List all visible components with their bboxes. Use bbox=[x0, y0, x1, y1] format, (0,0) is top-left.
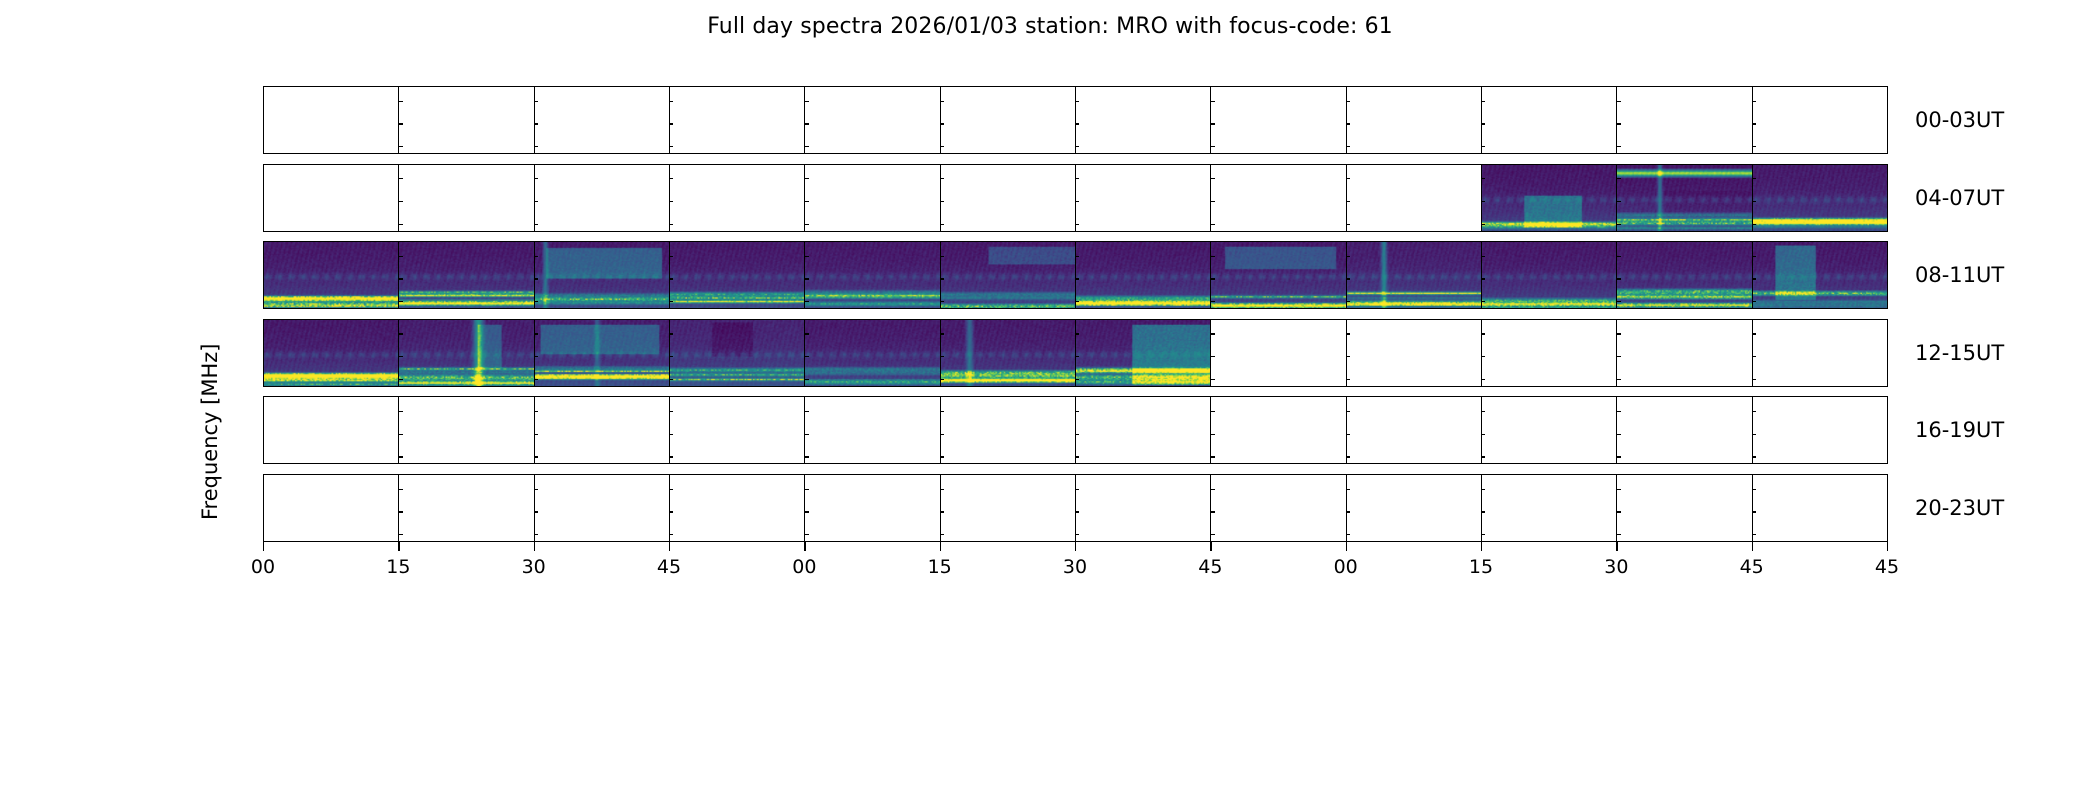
spectrogram-row-16-19ut: 255075 bbox=[263, 396, 1887, 464]
spectrogram-image bbox=[1617, 165, 1752, 231]
y-tick-mark-inner bbox=[534, 278, 539, 279]
y-tick-mark-inner bbox=[669, 379, 674, 380]
x-tick-mark bbox=[1075, 542, 1076, 551]
spectrogram-panel[interactable] bbox=[1481, 164, 1618, 232]
y-tick-mark-inner bbox=[1616, 434, 1621, 435]
y-tick-mark-inner bbox=[398, 146, 403, 147]
x-tick-label: 30 bbox=[522, 556, 546, 578]
x-tick-label: 45 bbox=[1198, 556, 1222, 578]
y-tick-mark-inner bbox=[1210, 146, 1215, 147]
spectrogram-panel[interactable] bbox=[398, 241, 535, 309]
y-tick-mark-inner bbox=[1616, 534, 1621, 535]
y-tick-mark-inner bbox=[669, 178, 674, 179]
x-tick-label: 00 bbox=[251, 556, 275, 578]
y-tick-mark-inner bbox=[1752, 201, 1757, 202]
y-tick-mark-inner bbox=[940, 123, 945, 124]
y-tick-mark-inner bbox=[940, 101, 945, 102]
spectrogram-panel[interactable] bbox=[534, 474, 671, 542]
spectrogram-image bbox=[1753, 242, 1888, 308]
y-tick-mark bbox=[263, 278, 264, 279]
y-tick-mark bbox=[263, 101, 264, 102]
y-tick-mark-inner bbox=[1481, 356, 1486, 357]
spectrogram-panel[interactable]: 255075 bbox=[263, 319, 400, 387]
y-tick-mark-inner bbox=[1481, 224, 1486, 225]
y-tick-mark-inner bbox=[1210, 101, 1215, 102]
y-tick-mark-inner bbox=[1481, 434, 1486, 435]
y-tick-mark-inner bbox=[669, 101, 674, 102]
y-tick-mark-inner bbox=[1752, 434, 1757, 435]
spectrogram-panel[interactable] bbox=[804, 396, 941, 464]
spectrogram-panel[interactable]: 255075 bbox=[263, 474, 400, 542]
y-tick-mark bbox=[263, 146, 264, 147]
y-tick-mark-inner bbox=[1346, 489, 1351, 490]
spectrogram-panel[interactable] bbox=[940, 86, 1077, 154]
spectrogram-row-00-03ut: 255075 bbox=[263, 86, 1887, 154]
y-tick-mark-inner bbox=[669, 201, 674, 202]
spectrogram-image bbox=[941, 242, 1076, 308]
row-label-12-15ut: 12-15UT bbox=[1915, 341, 2004, 365]
y-tick-mark-inner bbox=[1210, 379, 1215, 380]
y-tick-mark bbox=[263, 411, 264, 412]
y-tick-mark-inner bbox=[804, 101, 809, 102]
y-tick-mark-inner bbox=[1210, 201, 1215, 202]
y-tick-mark bbox=[263, 201, 264, 202]
y-tick-mark-inner bbox=[1075, 534, 1080, 535]
y-tick-mark-inner bbox=[1075, 434, 1080, 435]
spectrogram-panel[interactable] bbox=[1346, 319, 1483, 387]
y-tick-mark bbox=[263, 511, 264, 512]
spectrogram-panel[interactable] bbox=[1346, 164, 1483, 232]
y-tick-mark-inner bbox=[804, 301, 809, 302]
row-label-08-11ut: 08-11UT bbox=[1915, 263, 2004, 287]
y-tick-mark-inner bbox=[398, 123, 403, 124]
spectrogram-panel[interactable] bbox=[940, 396, 1077, 464]
y-tick-mark-inner bbox=[534, 301, 539, 302]
y-tick-mark-inner bbox=[669, 456, 674, 457]
y-tick-mark-inner bbox=[1752, 146, 1757, 147]
spectrogram-panel[interactable]: 255075 bbox=[263, 396, 400, 464]
y-tick-mark-inner bbox=[1075, 146, 1080, 147]
y-tick-mark-inner bbox=[1616, 178, 1621, 179]
spectrogram-panel[interactable] bbox=[1616, 86, 1753, 154]
spectrogram-row-20-23ut: 255075 bbox=[263, 474, 1887, 542]
y-tick-mark-inner bbox=[398, 534, 403, 535]
x-tick-mark bbox=[1210, 542, 1211, 551]
x-tick-label: 15 bbox=[1469, 556, 1493, 578]
spectrogram-panel[interactable] bbox=[1075, 86, 1212, 154]
spectrogram-panel[interactable] bbox=[1752, 319, 1889, 387]
spectrogram-image bbox=[535, 242, 670, 308]
y-tick-mark-inner bbox=[940, 201, 945, 202]
y-tick-mark-inner bbox=[1075, 278, 1080, 279]
y-tick-mark bbox=[263, 356, 264, 357]
y-tick-mark-inner bbox=[669, 256, 674, 257]
y-tick-mark-inner bbox=[1075, 201, 1080, 202]
y-tick-mark-inner bbox=[1616, 278, 1621, 279]
spectrogram-panel[interactable] bbox=[669, 241, 806, 309]
y-tick-mark-inner bbox=[1616, 101, 1621, 102]
y-tick-mark-inner bbox=[940, 178, 945, 179]
y-tick-mark-inner bbox=[1752, 456, 1757, 457]
y-tick-mark-inner bbox=[534, 333, 539, 334]
y-tick-mark-inner bbox=[804, 224, 809, 225]
y-tick-mark-inner bbox=[804, 333, 809, 334]
y-tick-mark-inner bbox=[398, 434, 403, 435]
y-tick-mark-inner bbox=[1481, 333, 1486, 334]
y-tick-mark-inner bbox=[1481, 123, 1486, 124]
y-tick-mark bbox=[263, 224, 264, 225]
spectrogram-image bbox=[1076, 242, 1211, 308]
spectrogram-panel[interactable] bbox=[669, 86, 806, 154]
spectrogram-image bbox=[1753, 165, 1888, 231]
y-tick-mark-inner bbox=[1752, 511, 1757, 512]
spectrogram-panel[interactable] bbox=[669, 164, 806, 232]
spectrogram-panel[interactable] bbox=[940, 241, 1077, 309]
spectrogram-panel[interactable]: 255075 bbox=[263, 86, 400, 154]
y-tick-mark-inner bbox=[1210, 356, 1215, 357]
spectrogram-row-08-11ut: 255075 bbox=[263, 241, 1887, 309]
x-tick-mark bbox=[940, 542, 941, 551]
y-tick-mark-inner bbox=[1752, 411, 1757, 412]
spectrogram-image bbox=[399, 320, 534, 386]
y-tick-mark-inner bbox=[398, 201, 403, 202]
y-tick-mark-inner bbox=[1210, 411, 1215, 412]
y-tick-mark-inner bbox=[1210, 434, 1215, 435]
y-tick-mark-inner bbox=[1346, 534, 1351, 535]
spectrogram-panel[interactable] bbox=[1346, 474, 1483, 542]
spectrogram-panel[interactable] bbox=[1346, 396, 1483, 464]
row-label-00-03ut: 00-03UT bbox=[1915, 108, 2004, 132]
y-tick-mark-inner bbox=[1481, 379, 1486, 380]
y-tick-mark-inner bbox=[940, 456, 945, 457]
spectrogram-panel[interactable] bbox=[534, 396, 671, 464]
y-tick-mark-inner bbox=[1616, 333, 1621, 334]
spectrogram-image bbox=[264, 320, 399, 386]
y-tick-mark-inner bbox=[1616, 123, 1621, 124]
spectrogram-panel[interactable] bbox=[1616, 396, 1753, 464]
y-tick-mark-inner bbox=[940, 434, 945, 435]
y-tick-mark-inner bbox=[1481, 256, 1486, 257]
x-tick-mark bbox=[1346, 542, 1347, 551]
y-tick-mark-inner bbox=[1752, 356, 1757, 357]
y-tick-mark-inner bbox=[1210, 256, 1215, 257]
spectrogram-panel[interactable] bbox=[804, 319, 941, 387]
y-tick-mark-inner bbox=[398, 224, 403, 225]
spectrogram-image bbox=[1347, 242, 1482, 308]
x-tick-label: 00 bbox=[1334, 556, 1358, 578]
y-tick-mark-inner bbox=[1346, 379, 1351, 380]
spectrogram-panel[interactable] bbox=[1752, 396, 1889, 464]
y-tick-mark-inner bbox=[398, 301, 403, 302]
y-tick-mark-inner bbox=[669, 224, 674, 225]
y-tick-mark-inner bbox=[398, 356, 403, 357]
y-tick-mark-inner bbox=[1075, 489, 1080, 490]
y-tick-mark-inner bbox=[940, 256, 945, 257]
y-tick-mark-inner bbox=[804, 256, 809, 257]
y-tick-mark bbox=[263, 333, 264, 334]
y-tick-mark-inner bbox=[940, 356, 945, 357]
spectrogram-panel[interactable] bbox=[1210, 474, 1347, 542]
x-tick-mark bbox=[534, 542, 535, 551]
y-tick-mark-inner bbox=[1481, 534, 1486, 535]
spectrogram-panel[interactable] bbox=[398, 474, 535, 542]
spectrogram-panel[interactable] bbox=[940, 474, 1077, 542]
spectrogram-panel[interactable] bbox=[398, 86, 535, 154]
spectrogram-panel[interactable]: 255075 bbox=[263, 164, 400, 232]
spectrogram-panel[interactable] bbox=[1752, 86, 1889, 154]
y-tick-mark-inner bbox=[534, 101, 539, 102]
x-tick-label: 00 bbox=[792, 556, 816, 578]
y-tick-mark-inner bbox=[1616, 511, 1621, 512]
x-tick-label: 30 bbox=[1063, 556, 1087, 578]
y-tick-mark-inner bbox=[1616, 146, 1621, 147]
y-tick-mark-inner bbox=[804, 201, 809, 202]
y-tick-mark-inner bbox=[1752, 333, 1757, 334]
spectrogram-panel[interactable] bbox=[398, 319, 535, 387]
y-tick-mark-inner bbox=[1075, 333, 1080, 334]
y-tick-mark bbox=[263, 178, 264, 179]
y-tick-mark-inner bbox=[1752, 534, 1757, 535]
row-label-04-07ut: 04-07UT bbox=[1915, 186, 2004, 210]
y-tick-mark-inner bbox=[398, 256, 403, 257]
spectrogram-image bbox=[670, 320, 805, 386]
x-tick-mark bbox=[669, 542, 670, 551]
y-tick-mark-inner bbox=[1346, 256, 1351, 257]
spectrogram-panel[interactable] bbox=[1752, 241, 1889, 309]
y-tick-mark-inner bbox=[1752, 101, 1757, 102]
spectrogram-panel[interactable] bbox=[1210, 241, 1347, 309]
x-tick-mark bbox=[263, 542, 264, 551]
y-tick-mark-inner bbox=[804, 123, 809, 124]
y-tick-mark-inner bbox=[1616, 301, 1621, 302]
y-tick-mark-inner bbox=[669, 534, 674, 535]
y-tick-mark-inner bbox=[534, 456, 539, 457]
spectrogram-panel[interactable] bbox=[534, 319, 671, 387]
row-label-16-19ut: 16-19UT bbox=[1915, 418, 2004, 442]
x-tick-mark bbox=[1752, 542, 1753, 551]
y-tick-mark-inner bbox=[398, 489, 403, 490]
y-tick-mark-inner bbox=[534, 256, 539, 257]
spectrogram-panel[interactable] bbox=[1210, 319, 1347, 387]
y-tick-mark-inner bbox=[804, 434, 809, 435]
y-tick-mark bbox=[263, 434, 264, 435]
y-tick-mark-inner bbox=[1346, 411, 1351, 412]
y-tick-mark-inner bbox=[1752, 224, 1757, 225]
spectrogram-panel[interactable] bbox=[534, 86, 671, 154]
y-tick-mark-inner bbox=[1616, 411, 1621, 412]
y-tick-mark-inner bbox=[669, 434, 674, 435]
y-tick-mark-inner bbox=[1346, 301, 1351, 302]
y-tick-mark-inner bbox=[1210, 534, 1215, 535]
y-tick-mark-inner bbox=[1752, 256, 1757, 257]
y-tick-mark-inner bbox=[1210, 224, 1215, 225]
spectrogram-panel[interactable] bbox=[669, 319, 806, 387]
y-tick-mark-inner bbox=[804, 534, 809, 535]
y-tick-mark-inner bbox=[669, 489, 674, 490]
spectrogram-row-12-15ut: 255075 bbox=[263, 319, 1887, 387]
y-tick-mark-inner bbox=[804, 511, 809, 512]
row-label-20-23ut: 20-23UT bbox=[1915, 496, 2004, 520]
x-tick-label: 45 bbox=[657, 556, 681, 578]
y-tick-mark-inner bbox=[804, 489, 809, 490]
y-tick-mark-inner bbox=[804, 356, 809, 357]
y-tick-mark-inner bbox=[1346, 333, 1351, 334]
spectrogram-image bbox=[805, 320, 940, 386]
y-tick-mark-inner bbox=[804, 278, 809, 279]
spectrogram-panel[interactable] bbox=[1346, 86, 1483, 154]
y-tick-mark-inner bbox=[1075, 356, 1080, 357]
spectrogram-panel[interactable] bbox=[1210, 86, 1347, 154]
y-tick-mark-inner bbox=[1075, 101, 1080, 102]
spectrogram-panel[interactable] bbox=[804, 86, 941, 154]
y-tick-mark-inner bbox=[1075, 411, 1080, 412]
x-tick-label: 15 bbox=[386, 556, 410, 578]
spectrogram-panel[interactable] bbox=[804, 164, 941, 232]
y-tick-mark-inner bbox=[669, 146, 674, 147]
y-tick-mark-inner bbox=[1210, 333, 1215, 334]
y-tick-mark-inner bbox=[669, 356, 674, 357]
y-tick-mark-inner bbox=[1346, 178, 1351, 179]
y-tick-mark-inner bbox=[1346, 278, 1351, 279]
y-tick-mark-inner bbox=[1752, 178, 1757, 179]
spectrogram-panel[interactable] bbox=[1210, 396, 1347, 464]
y-tick-mark-inner bbox=[940, 379, 945, 380]
y-tick-mark-inner bbox=[1075, 379, 1080, 380]
y-tick-mark-inner bbox=[1075, 224, 1080, 225]
y-tick-mark-inner bbox=[1210, 301, 1215, 302]
y-tick-mark-inner bbox=[940, 278, 945, 279]
y-tick-mark-inner bbox=[398, 511, 403, 512]
y-tick-mark-inner bbox=[804, 178, 809, 179]
y-tick-mark-inner bbox=[940, 511, 945, 512]
y-tick-mark-inner bbox=[1075, 123, 1080, 124]
y-axis-label: Frequency [MHz] bbox=[198, 494, 222, 520]
spectrogram-panel[interactable] bbox=[1616, 164, 1753, 232]
y-tick-mark-inner bbox=[1616, 489, 1621, 490]
x-tick-label: 30 bbox=[1604, 556, 1628, 578]
y-tick-mark-inner bbox=[1210, 178, 1215, 179]
spectrogram-panel[interactable] bbox=[940, 164, 1077, 232]
y-tick-mark-inner bbox=[398, 379, 403, 380]
y-tick-mark-inner bbox=[534, 201, 539, 202]
spectrogram-panel[interactable] bbox=[1481, 474, 1618, 542]
spectrogram-image bbox=[399, 242, 534, 308]
spectrogram-panel[interactable] bbox=[1616, 474, 1753, 542]
y-tick-mark-inner bbox=[1616, 201, 1621, 202]
spectrogram-panel[interactable] bbox=[1481, 241, 1618, 309]
spectrogram-panel[interactable] bbox=[804, 241, 941, 309]
x-tick-label: 45 bbox=[1740, 556, 1764, 578]
y-tick-mark-inner bbox=[1616, 456, 1621, 457]
y-tick-mark bbox=[263, 379, 264, 380]
spectrogram-panel[interactable] bbox=[534, 164, 671, 232]
spectrogram-panel[interactable] bbox=[1616, 241, 1753, 309]
y-tick-mark-inner bbox=[669, 301, 674, 302]
spectrogram-panel[interactable] bbox=[1075, 396, 1212, 464]
y-tick-mark-inner bbox=[804, 146, 809, 147]
spectrogram-image bbox=[1617, 242, 1752, 308]
y-tick-mark-inner bbox=[1075, 301, 1080, 302]
spectrogram-panel[interactable] bbox=[669, 396, 806, 464]
y-tick-mark-inner bbox=[1346, 456, 1351, 457]
y-tick-mark-inner bbox=[534, 178, 539, 179]
spectrogram-panel[interactable] bbox=[534, 241, 671, 309]
y-tick-mark bbox=[263, 123, 264, 124]
y-tick-mark-inner bbox=[1616, 379, 1621, 380]
spectrogram-image bbox=[264, 242, 399, 308]
y-tick-mark-inner bbox=[1481, 301, 1486, 302]
spectrogram-panel[interactable] bbox=[1481, 86, 1618, 154]
y-tick-mark bbox=[263, 456, 264, 457]
y-tick-mark-inner bbox=[669, 511, 674, 512]
y-tick-mark-inner bbox=[1346, 201, 1351, 202]
y-tick-mark-inner bbox=[1752, 301, 1757, 302]
spectrogram-panel[interactable] bbox=[1210, 164, 1347, 232]
x-tick-mark bbox=[1887, 542, 1888, 551]
spectrogram-panel[interactable] bbox=[1752, 474, 1889, 542]
y-tick-mark-inner bbox=[940, 411, 945, 412]
y-tick-mark-inner bbox=[1481, 101, 1486, 102]
spectrogram-image bbox=[1482, 165, 1617, 231]
spectrogram-image bbox=[1211, 242, 1346, 308]
spectrogram-panel[interactable] bbox=[1481, 396, 1618, 464]
y-tick-mark-inner bbox=[1752, 489, 1757, 490]
y-tick-mark-inner bbox=[1481, 278, 1486, 279]
spectrogram-image bbox=[805, 242, 940, 308]
spectrogram-panel[interactable] bbox=[1616, 319, 1753, 387]
y-tick-mark bbox=[263, 534, 264, 535]
y-tick-mark-inner bbox=[1481, 456, 1486, 457]
x-tick-label: 15 bbox=[928, 556, 952, 578]
y-tick-mark-inner bbox=[669, 411, 674, 412]
y-tick-mark-inner bbox=[398, 278, 403, 279]
spectrogram-panel[interactable] bbox=[1075, 474, 1212, 542]
spectrogram-panel[interactable] bbox=[398, 396, 535, 464]
y-tick-mark-inner bbox=[669, 278, 674, 279]
y-tick-mark-inner bbox=[1616, 224, 1621, 225]
y-tick-mark-inner bbox=[534, 224, 539, 225]
x-tick-mark bbox=[1616, 542, 1617, 551]
y-tick-mark-inner bbox=[1210, 456, 1215, 457]
spectrogram-panel[interactable]: 255075 bbox=[263, 241, 400, 309]
y-tick-mark bbox=[263, 301, 264, 302]
spectrogram-row-04-07ut: 255075 bbox=[263, 164, 1887, 232]
y-tick-mark-inner bbox=[398, 178, 403, 179]
spectrogram-panel[interactable] bbox=[1481, 319, 1618, 387]
y-tick-mark-inner bbox=[1346, 511, 1351, 512]
spectrogram-image bbox=[670, 242, 805, 308]
spectrogram-panel[interactable] bbox=[669, 474, 806, 542]
spectrogram-panel[interactable] bbox=[804, 474, 941, 542]
y-tick-mark-inner bbox=[1481, 489, 1486, 490]
x-tick-label: 45 bbox=[1875, 556, 1899, 578]
y-tick-mark-inner bbox=[940, 146, 945, 147]
spectrogram-panel[interactable] bbox=[1075, 241, 1212, 309]
spectrogram-panel[interactable] bbox=[398, 164, 535, 232]
y-tick-mark-inner bbox=[534, 511, 539, 512]
spectrogram-panel[interactable] bbox=[1075, 319, 1212, 387]
spectrogram-panel[interactable] bbox=[940, 319, 1077, 387]
y-tick-mark-inner bbox=[1346, 224, 1351, 225]
y-tick-mark-inner bbox=[940, 224, 945, 225]
spectrogram-image bbox=[1076, 320, 1211, 386]
spectrogram-panel[interactable] bbox=[1075, 164, 1212, 232]
y-tick-mark-inner bbox=[1481, 411, 1486, 412]
spectrogram-panel[interactable] bbox=[1752, 164, 1889, 232]
spectrogram-panel[interactable] bbox=[1346, 241, 1483, 309]
y-tick-mark-inner bbox=[398, 333, 403, 334]
y-tick-mark-inner bbox=[1210, 123, 1215, 124]
